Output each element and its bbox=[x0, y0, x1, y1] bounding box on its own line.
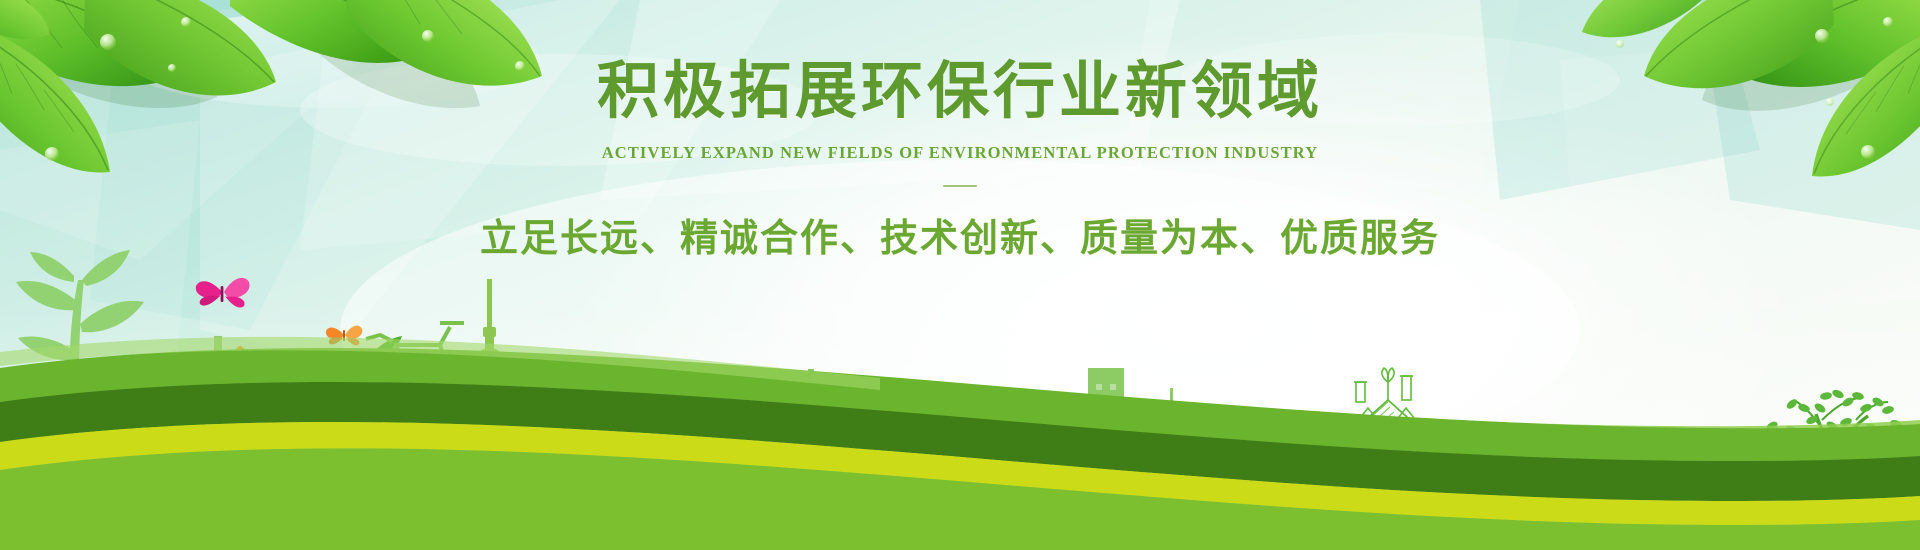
page-title: 积极拓展环保行业新领域 bbox=[0, 0, 1920, 129]
eco-banner: 积极拓展环保行业新领域 ACTIVELY EXPAND NEW FIELDS O… bbox=[0, 0, 1920, 550]
page-subtitle: ACTIVELY EXPAND NEW FIELDS OF ENVIRONMEN… bbox=[0, 129, 1920, 163]
wave-bands bbox=[0, 220, 1920, 550]
text-block: 积极拓展环保行业新领域 ACTIVELY EXPAND NEW FIELDS O… bbox=[0, 0, 1920, 262]
page-tagline: 立足长远、精诚合作、技术创新、质量为本、优质服务 bbox=[0, 187, 1920, 262]
